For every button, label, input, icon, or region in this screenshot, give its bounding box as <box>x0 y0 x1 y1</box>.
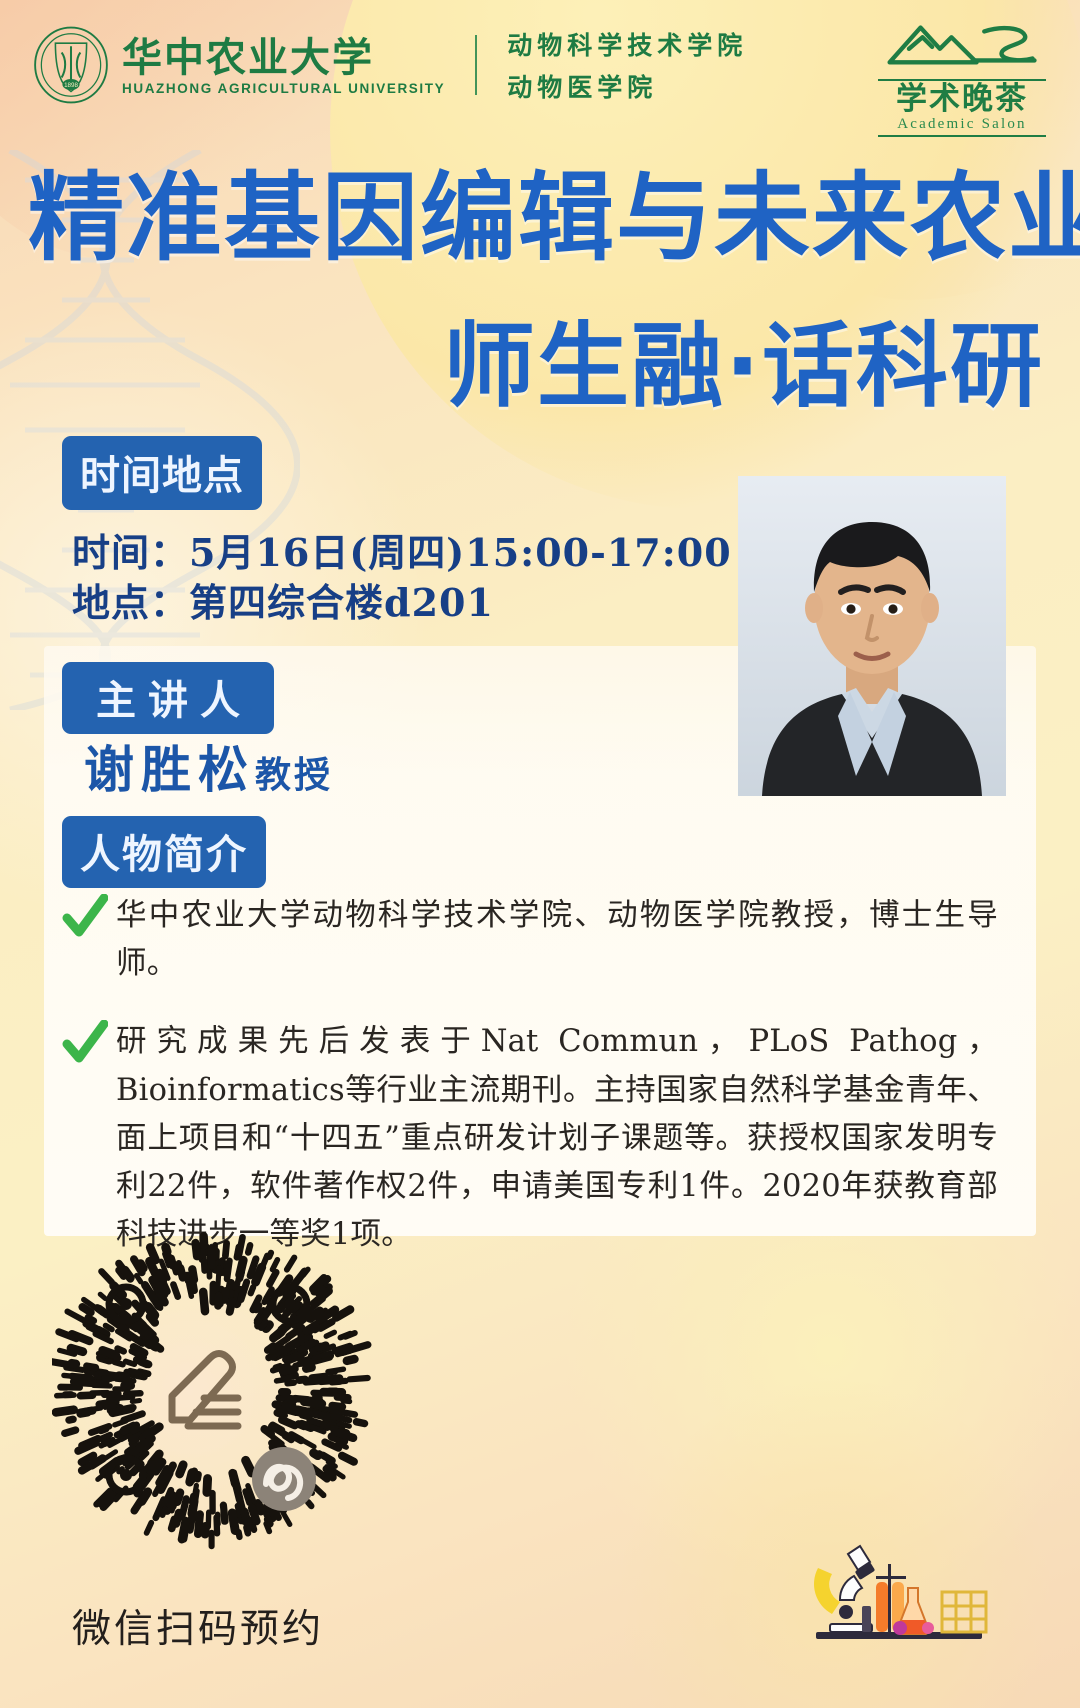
speaker-name-row: 谢胜松教授 <box>84 730 333 802</box>
poster-header: 1898 华中农业大学 HUAZHONG AGRICULTURAL UNIVER… <box>0 0 1080 150</box>
check-icon <box>62 1020 108 1066</box>
crest-year-text: 1898 <box>64 82 78 89</box>
svg-text:华中农业大学: 华中农业大学 <box>122 35 374 80</box>
speaker-portrait-image <box>738 476 1006 796</box>
university-name-cn-glyphs: 华中农业大学 <box>122 34 422 80</box>
university-crest-icon: 1898 <box>32 26 110 104</box>
university-name-en: HUAZHONG AGRICULTURAL UNIVERSITY <box>122 81 445 96</box>
college-line-1: 动物科学技术学院 <box>507 26 747 62</box>
wechat-miniprogram-qr-code[interactable] <box>52 1232 372 1552</box>
laboratory-illustration-icon <box>804 1528 1004 1648</box>
header-divider <box>475 35 477 95</box>
event-place-line: 地点：第四综合楼d201 <box>72 572 494 627</box>
bio-item: 研究成果先后发表于Nat Commun，PLoS Pathog，Bioinfor… <box>62 1018 998 1259</box>
bio-list: 华中农业大学动物科学技术学院、动物医学院教授，博士生导师。 研究成果先后发表于N… <box>62 892 998 1289</box>
poster-subtitle: 师生融·话科研 <box>443 318 1044 416</box>
time-place-badge: 时间地点 <box>62 436 262 510</box>
bio-item: 华中农业大学动物科学技术学院、动物医学院教授，博士生导师。 <box>62 892 998 988</box>
speaker-title-text: 教授 <box>255 754 333 796</box>
bio-item-text: 研究成果先后发表于Nat Commun，PLoS Pathog，Bioinfor… <box>116 1018 998 1259</box>
salon-name-en: Academic Salon <box>878 116 1046 137</box>
poster-canvas: 1898 华中农业大学 HUAZHONG AGRICULTURAL UNIVER… <box>0 0 1080 1708</box>
poster-main-title: 精准基因编辑与未来农业 <box>28 168 1052 270</box>
speaker-name-text: 谢胜松 <box>84 740 255 799</box>
qr-code-graphic[interactable] <box>52 1232 372 1552</box>
university-logo: 1898 华中农业大学 HUAZHONG AGRICULTURAL UNIVER… <box>32 26 747 104</box>
academic-salon-logo: 学术晚茶 Academic Salon <box>878 16 1046 137</box>
salon-mountain-icon <box>880 16 1044 72</box>
event-time-line: 时间：5月16日(周四)15:00-17:00 <box>72 522 732 577</box>
university-name-block: 华中农业大学 HUAZHONG AGRICULTURAL UNIVERSITY <box>122 34 445 96</box>
speaker-portrait <box>738 476 1006 796</box>
bio-item-text: 华中农业大学动物科学技术学院、动物医学院教授，博士生导师。 <box>116 892 998 988</box>
university-name-cn: 华中农业大学 <box>122 34 445 78</box>
pencil-form-icon <box>172 1354 238 1427</box>
speaker-badge: 主讲人 <box>62 662 274 734</box>
salon-name-cn: 学术晚茶 <box>878 79 1046 116</box>
check-icon <box>62 894 108 940</box>
college-name-block: 动物科学技术学院 动物医学院 <box>507 26 747 104</box>
qr-caption-text: 微信扫码预约 <box>72 1598 324 1654</box>
bio-badge: 人物简介 <box>62 816 266 888</box>
college-line-2: 动物医学院 <box>507 68 747 104</box>
